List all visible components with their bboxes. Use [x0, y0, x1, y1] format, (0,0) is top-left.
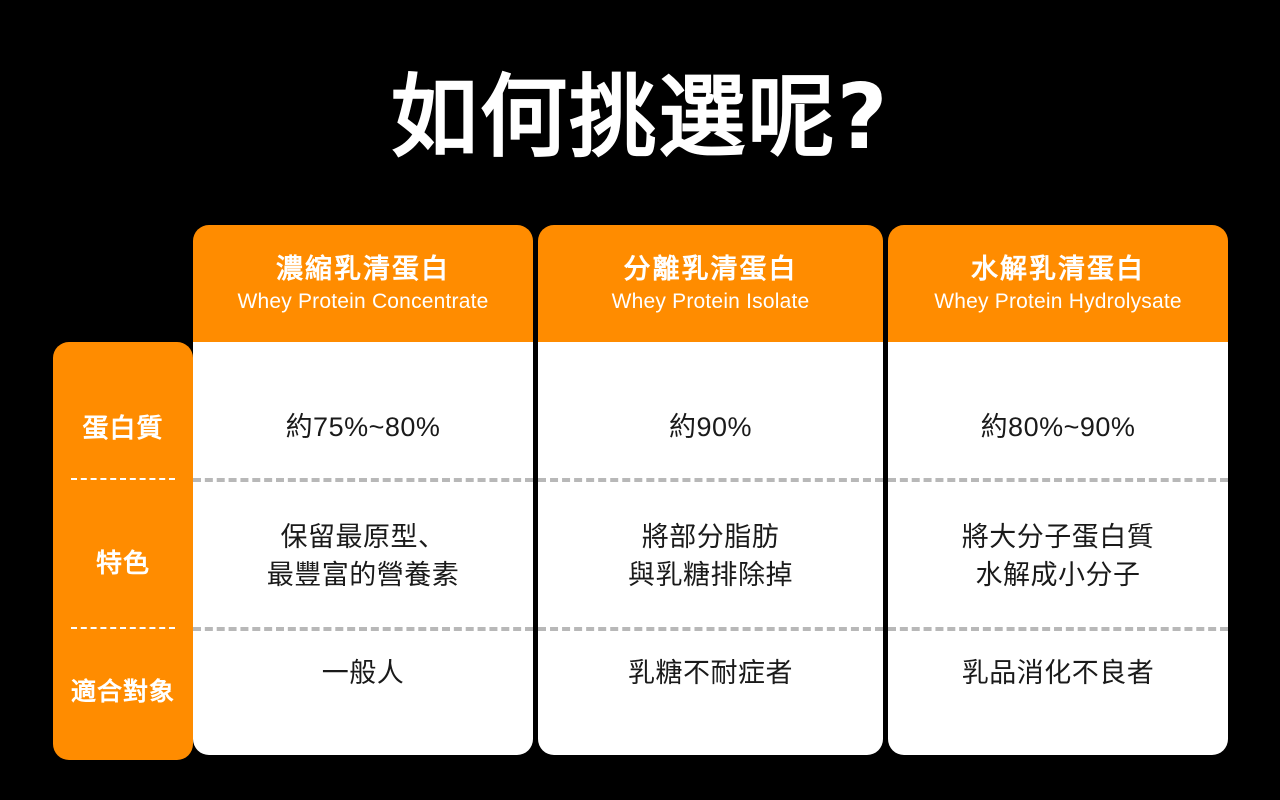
- cell-line: 約90%: [538, 408, 883, 446]
- cell-line: 乳糖不耐症者: [538, 654, 883, 692]
- cell-audience: 一般人: [193, 654, 533, 692]
- column-header-cn: 分離乳清蛋白: [538, 253, 883, 285]
- cell-line: 將部分脂肪: [538, 518, 883, 556]
- infographic-canvas: 如何挑選呢? 蛋白質 特色 適合對象 濃縮乳清蛋白 Whey Protein C…: [0, 0, 1280, 800]
- page-title: 如何挑選呢?: [19, 68, 1261, 168]
- cell-audience: 乳糖不耐症者: [538, 654, 883, 692]
- cell-line: 最豐富的營養素: [193, 556, 533, 594]
- column-card-isolate: 約90% 將部分脂肪 與乳糖排除掉 乳糖不耐症者: [538, 342, 883, 755]
- cell-protein: 約80%~90%: [888, 408, 1228, 446]
- row-divider-1-col-2: [538, 478, 883, 482]
- cell-protein: 約90%: [538, 408, 883, 446]
- panel-divider-2: [71, 627, 175, 629]
- panel-divider-1: [71, 478, 175, 480]
- cell-feature: 將大分子蛋白質 水解成小分子: [888, 518, 1228, 594]
- row-divider-2-col-1: [193, 627, 533, 631]
- row-divider-2-col-3: [888, 627, 1228, 631]
- row-divider-2-col-2: [538, 627, 883, 631]
- cell-protein: 約75%~80%: [193, 408, 533, 446]
- row-divider-1-col-3: [888, 478, 1228, 482]
- cell-line: 保留最原型、: [193, 518, 533, 556]
- row-label-feature: 特色: [53, 548, 193, 578]
- cell-line: 水解成小分子: [888, 556, 1228, 594]
- column-card-concentrate: 約75%~80% 保留最原型、 最豐富的營養素 一般人: [193, 342, 533, 755]
- cell-line: 將大分子蛋白質: [888, 518, 1228, 556]
- cell-line: 與乳糖排除掉: [538, 556, 883, 594]
- column-header-en: Whey Protein Hydrolysate: [888, 289, 1228, 315]
- row-divider-1-col-1: [193, 478, 533, 482]
- row-label-protein: 蛋白質: [53, 413, 193, 443]
- column-header-en: Whey Protein Concentrate: [193, 289, 533, 315]
- cell-line: 一般人: [193, 654, 533, 692]
- cell-feature: 保留最原型、 最豐富的營養素: [193, 518, 533, 594]
- cell-line: 乳品消化不良者: [888, 654, 1228, 692]
- row-label-panel: 蛋白質 特色 適合對象: [53, 342, 193, 760]
- column-header-cn: 水解乳清蛋白: [888, 253, 1228, 285]
- column-header-concentrate[interactable]: 濃縮乳清蛋白 Whey Protein Concentrate: [193, 225, 533, 342]
- column-card-hydrolysate: 約80%~90% 將大分子蛋白質 水解成小分子 乳品消化不良者: [888, 342, 1228, 755]
- row-label-audience: 適合對象: [53, 677, 193, 707]
- cell-line: 約80%~90%: [888, 408, 1228, 446]
- column-header-hydrolysate[interactable]: 水解乳清蛋白 Whey Protein Hydrolysate: [888, 225, 1228, 342]
- cell-audience: 乳品消化不良者: [888, 654, 1228, 692]
- cell-line: 約75%~80%: [193, 408, 533, 446]
- column-header-isolate[interactable]: 分離乳清蛋白 Whey Protein Isolate: [538, 225, 883, 342]
- column-header-cn: 濃縮乳清蛋白: [193, 253, 533, 285]
- cell-feature: 將部分脂肪 與乳糖排除掉: [538, 518, 883, 594]
- column-header-en: Whey Protein Isolate: [538, 289, 883, 315]
